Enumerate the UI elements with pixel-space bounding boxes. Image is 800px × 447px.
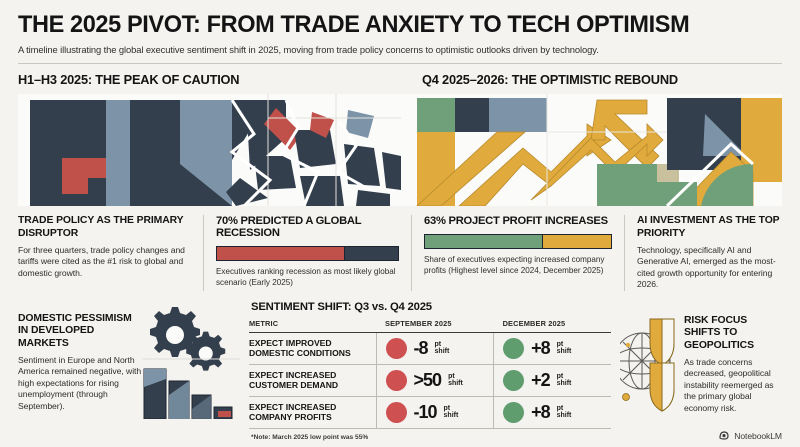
geopolitics-body: As trade concerns decreased, geopolitica… — [684, 357, 782, 415]
row-metric-label: EXPECT INCREASED COMPANY PROFITS — [249, 396, 376, 428]
shield-icon — [650, 363, 674, 411]
recession-stat-title: 70% PREDICTED A GLOBAL RECESSION — [216, 215, 399, 239]
mid-row: TRADE POLICY AS THE PRIMARY DISRUPTOR Fo… — [0, 215, 800, 290]
status-dot-positive — [503, 370, 524, 391]
ai-priority-body: Technology, specifically AI and Generati… — [637, 245, 782, 291]
row-december-value: +8 pt shift — [494, 396, 611, 428]
recession-bar — [216, 246, 399, 261]
collage-right-rebound — [401, 94, 782, 206]
row-september-value: >50 pt shift — [376, 364, 494, 396]
unit-bottom: shift — [557, 412, 572, 419]
column-header-september: SEPTEMBER 2025 — [376, 319, 494, 333]
page-title: THE 2025 PIVOT: FROM TRADE ANXIETY TO TE… — [18, 12, 751, 38]
unit-top: pt — [557, 341, 564, 348]
row-metric-label: EXPECT IMPROVED DOMESTIC CONDITIONS — [249, 332, 376, 364]
globe-shield-art — [620, 301, 682, 419]
recession-bar-rest — [344, 247, 398, 260]
value-number: +8 — [531, 339, 550, 357]
recession-caption: Executives ranking recession as most lik… — [216, 267, 399, 288]
rebound-geometry-svg — [401, 94, 782, 206]
status-dot-negative — [386, 338, 407, 359]
infographic-page: THE 2025 PIVOT: FROM TRADE ANXIETY TO TE… — [0, 0, 800, 447]
declining-bars-and-gears-art — [142, 301, 240, 419]
domestic-pessimism-heading: DOMESTIC PESSIMISM IN DEVELOPED MARKETS — [18, 313, 142, 351]
row-december-value: +2 pt shift — [494, 364, 611, 396]
domestic-pessimism-body: Sentiment in Europe and North America re… — [18, 355, 142, 413]
geopolitics-heading: RISK FOCUS SHIFTS TO GEOPOLITICS — [684, 315, 782, 353]
unit-top: pt — [435, 341, 442, 348]
profit-stat-title: 63% PROJECT PROFIT INCREASES — [424, 215, 612, 227]
value-unit: pt shift — [444, 405, 459, 420]
row-december-value: +8 pt shift — [494, 332, 611, 364]
value-unit: pt shift — [557, 341, 572, 356]
column-header-metric: METRIC — [249, 319, 376, 333]
table-row: EXPECT INCREASED CUSTOMER DEMAND >50 pt … — [249, 364, 611, 396]
value-number: -10 — [414, 403, 437, 421]
column-header-december: DECEMBER 2025 — [494, 319, 611, 333]
unit-top: pt — [444, 405, 451, 412]
block-geopolitics: RISK FOCUS SHIFTS TO GEOPOLITICS As trad… — [620, 301, 782, 441]
sentiment-table-title: SENTIMENT SHIFT: Q3 vs. Q4 2025 — [251, 301, 611, 313]
unit-bottom: shift — [435, 348, 450, 355]
value-number: +2 — [531, 371, 550, 389]
shield-icon — [650, 319, 674, 365]
ai-priority-heading: AI INVESTMENT AS THE TOP PRIORITY — [637, 215, 782, 240]
sentiment-table-block: SENTIMENT SHIFT: Q3 vs. Q4 2025 METRIC S… — [240, 301, 620, 441]
globe-icon — [620, 301, 682, 419]
unit-top: pt — [557, 405, 564, 412]
profit-caption: Share of executives expecting increased … — [424, 255, 612, 276]
card-ai-priority: AI INVESTMENT AS THE TOP PRIORITY Techno… — [624, 215, 782, 290]
caution-geometry-svg — [18, 94, 401, 206]
unit-bottom: shift — [444, 412, 459, 419]
notebooklm-logo-icon — [719, 430, 730, 441]
card-recession-stat: 70% PREDICTED A GLOBAL RECESSION Executi… — [203, 215, 411, 290]
panel-heading-right: Q4 2025–2026: THE OPTIMISTIC REBOUND — [408, 72, 780, 87]
page-subtitle: A timeline illustrating the global execu… — [18, 44, 782, 56]
row-september-value: -10 pt shift — [376, 396, 494, 428]
row-metric-label: EXPECT INCREASED CUSTOMER DEMAND — [249, 364, 376, 396]
profit-bar — [424, 234, 612, 249]
sentiment-shift-table: METRIC SEPTEMBER 2025 DECEMBER 2025 EXPE… — [249, 319, 611, 429]
bottom-row: DOMESTIC PESSIMISM IN DEVELOPED MARKETS … — [0, 301, 800, 441]
value-number: -8 — [414, 339, 428, 357]
declining-bar-chart — [142, 365, 240, 419]
row-september-value: -8 pt shift — [376, 332, 494, 364]
status-dot-negative — [386, 402, 407, 423]
value-unit: pt shift — [448, 373, 463, 388]
unit-top: pt — [557, 373, 564, 380]
collage-artwork — [18, 94, 782, 206]
unit-top: pt — [448, 373, 455, 380]
trade-policy-body: For three quarters, trade policy changes… — [18, 245, 191, 280]
table-row: EXPECT IMPROVED DOMESTIC CONDITIONS -8 p… — [249, 332, 611, 364]
value-number: >50 — [414, 371, 442, 389]
footer: NotebookLM — [719, 430, 782, 441]
table-row: EXPECT INCREASED COMPANY PROFITS -10 pt … — [249, 396, 611, 428]
value-unit: pt shift — [435, 341, 450, 356]
panel-headings: H1–H3 2025: THE PEAK OF CAUTION Q4 2025–… — [0, 72, 800, 87]
trade-policy-heading: TRADE POLICY AS THE PRIMARY DISRUPTOR — [18, 215, 191, 240]
value-unit: pt shift — [557, 373, 572, 388]
table-header-row: METRIC SEPTEMBER 2025 DECEMBER 2025 — [249, 319, 611, 333]
profit-bar-rest — [542, 235, 611, 248]
table-footnote: *Note: March 2025 low point was 55% — [251, 434, 611, 441]
status-dot-positive — [503, 338, 524, 359]
card-profit-stat: 63% PROJECT PROFIT INCREASES Share of ex… — [411, 215, 624, 290]
panel-heading-left: H1–H3 2025: THE PEAK OF CAUTION — [18, 72, 408, 87]
header-divider — [18, 63, 782, 64]
profit-bar-fill — [425, 235, 542, 248]
block-domestic-pessimism: DOMESTIC PESSIMISM IN DEVELOPED MARKETS … — [18, 301, 240, 441]
value-number: +8 — [531, 403, 550, 421]
unit-bottom: shift — [557, 380, 572, 387]
collage-left-caution — [18, 94, 401, 206]
status-dot-negative — [386, 370, 407, 391]
value-unit: pt shift — [557, 405, 572, 420]
footer-brand-label: NotebookLM — [734, 431, 782, 441]
card-trade-policy: TRADE POLICY AS THE PRIMARY DISRUPTOR Fo… — [18, 215, 203, 290]
unit-bottom: shift — [557, 348, 572, 355]
header: THE 2025 PIVOT: FROM TRADE ANXIETY TO TE… — [0, 0, 800, 56]
recession-bar-fill — [217, 247, 344, 260]
unit-bottom: shift — [448, 380, 463, 387]
status-dot-positive — [503, 402, 524, 423]
